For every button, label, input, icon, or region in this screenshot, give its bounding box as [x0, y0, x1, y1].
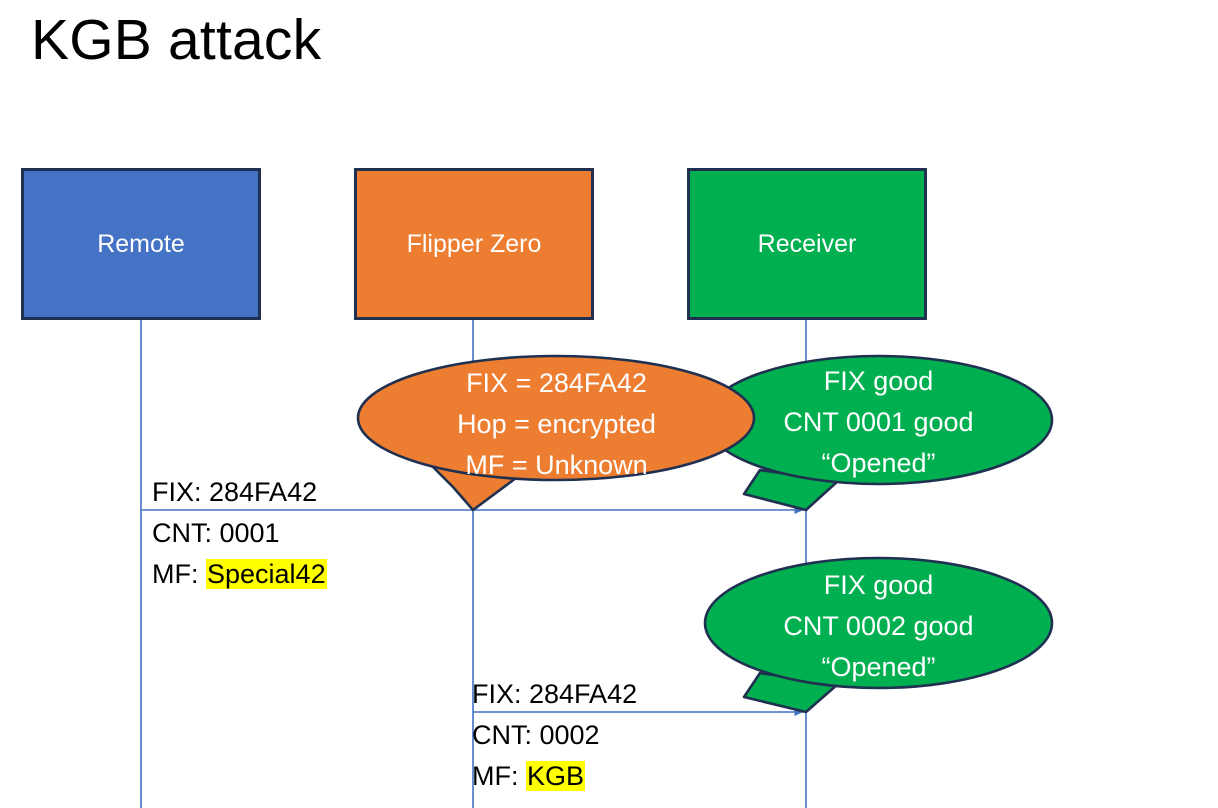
- message-mf-value-highlight: Special42: [206, 559, 327, 589]
- actor-box-receiver[interactable]: Receiver: [687, 168, 927, 320]
- actor-label-remote: Remote: [97, 229, 185, 259]
- actor-label-receiver: Receiver: [758, 229, 857, 259]
- message-mf-prefix: MF:: [472, 761, 526, 791]
- message-mf-line: MF: Special42: [152, 554, 327, 595]
- message-fix-line: FIX: 284FA42: [472, 674, 637, 715]
- message-fix-line: FIX: 284FA42: [152, 472, 327, 513]
- callout-receiver-response-2: [705, 558, 1052, 712]
- message-mf-prefix: MF:: [152, 559, 206, 589]
- message-cnt-line: CNT: 0001: [152, 513, 327, 554]
- actor-box-remote[interactable]: Remote: [21, 168, 261, 320]
- message-mf-value-highlight: KGB: [526, 761, 585, 791]
- actor-box-flipper-zero[interactable]: Flipper Zero: [354, 168, 594, 320]
- message-label-2: FIX: 284FA42 CNT: 0002 MF: KGB: [472, 674, 637, 797]
- message-label-1: FIX: 284FA42 CNT: 0001 MF: Special42: [152, 472, 327, 595]
- callout-receiver-response-1: [705, 356, 1052, 510]
- actor-label-flipper-zero: Flipper Zero: [407, 229, 542, 259]
- callout-flipper-observation: [358, 356, 754, 510]
- message-cnt-line: CNT: 0002: [472, 715, 637, 756]
- message-mf-line: MF: KGB: [472, 756, 637, 797]
